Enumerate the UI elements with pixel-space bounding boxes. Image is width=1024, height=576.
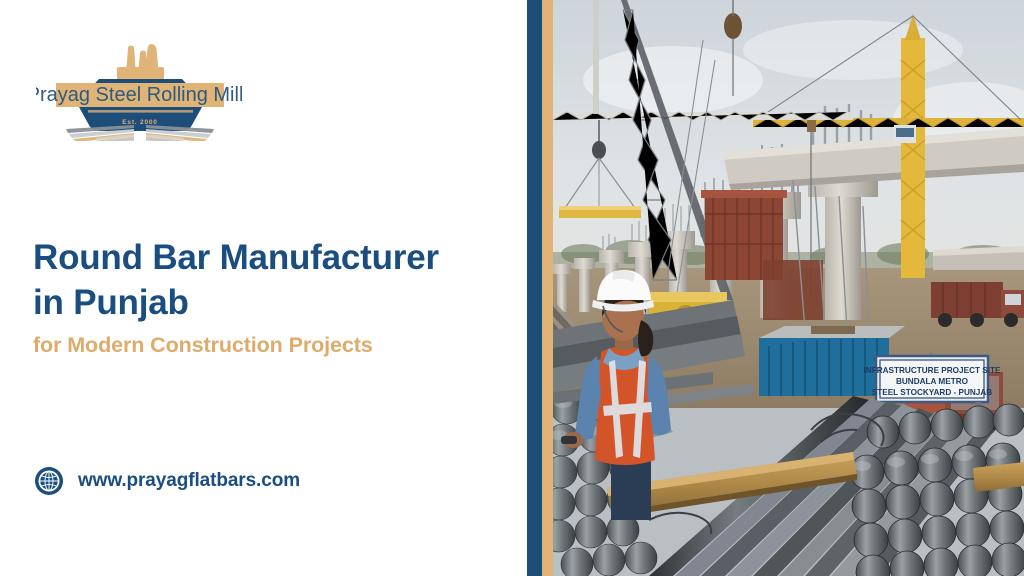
headline-line-1: Round Bar Manufacturer xyxy=(33,238,439,277)
logo-rails-right xyxy=(146,125,214,141)
company-logo[interactable]: Prayag Steel Rolling Mills Est. 2000 xyxy=(36,26,242,141)
headline-subtitle: for Modern Construction Projects xyxy=(33,333,513,358)
left-content-panel: Prayag Steel Rolling Mills Est. 2000 xyxy=(0,0,527,576)
divider-bar-tan xyxy=(542,0,553,576)
website-url[interactable]: www.prayagflatbars.com xyxy=(78,470,300,492)
divider-bar-navy xyxy=(527,0,542,576)
signboard-line-3: STEEL STOCKYARD - PUNJAB xyxy=(872,388,992,397)
logo-mark: Prayag Steel Rolling Mills Est. 2000 xyxy=(36,26,242,141)
logo-rails-left xyxy=(66,125,134,141)
globe-icon xyxy=(34,466,64,496)
signboard-line-2: BUNDALA METRO xyxy=(896,377,969,386)
photo-illustration: INFRASTRUCTURE PROJECT SITE BUNDALA METR… xyxy=(553,0,1024,576)
logo-established-text: Est. 2000 xyxy=(122,119,157,126)
construction-site-photo: INFRASTRUCTURE PROJECT SITE BUNDALA METR… xyxy=(553,0,1024,576)
headline-block: Round Bar Manufacturer in Punjab for Mod… xyxy=(33,236,513,358)
logo-company-name: Prayag Steel Rolling Mills xyxy=(36,84,242,106)
website-row[interactable]: www.prayagflatbars.com xyxy=(34,466,300,496)
headline-line-2: in Punjab xyxy=(33,281,513,326)
signboard-line-1: INFRASTRUCTURE PROJECT SITE xyxy=(864,366,1001,375)
marketing-banner: Prayag Steel Rolling Mills Est. 2000 xyxy=(0,0,1024,576)
page-title: Round Bar Manufacturer in Punjab xyxy=(33,236,513,326)
